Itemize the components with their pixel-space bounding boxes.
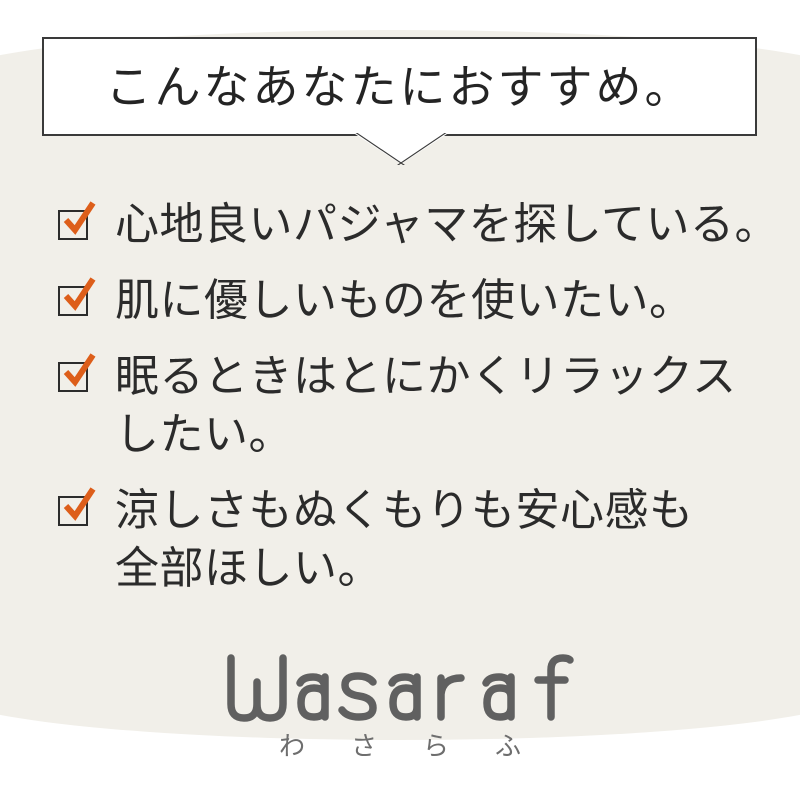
list-item-line: したい。 (115, 410, 293, 459)
checked-box-icon (58, 210, 88, 240)
checked-box-icon (58, 362, 88, 392)
checked-box-icon (58, 496, 88, 526)
brand-wordmark-icon (225, 652, 575, 726)
list-item-text: 心地良いパジャマを探している。 (115, 196, 779, 254)
header-speech-bubble: こんなあなたにおすすめ。 (42, 37, 757, 136)
brand-reading: わさらふ (0, 732, 800, 761)
list-item-line: 心地良いパジャマを探している。 (115, 200, 779, 249)
brand-logo: わさらふ (0, 652, 800, 761)
speech-bubble-tail (355, 134, 447, 168)
list-item-line: 肌に優しいものを使いたい。 (115, 276, 694, 325)
list-item-text: 涼しさもぬくもりも安心感も 全部ほしい。 (115, 482, 778, 598)
list-item: 眠るときはとにかくリラックス したい。 (58, 348, 778, 464)
list-item-line: 涼しさもぬくもりも安心感も (115, 486, 694, 535)
page-title: こんなあなたにおすすめ。 (106, 64, 694, 110)
list-item-line: 眠るときはとにかくリラックス (115, 352, 737, 401)
list-item-line: 全部ほしい。 (115, 544, 382, 593)
list-item: 心地良いパジャマを探している。 (58, 196, 778, 254)
list-item: 肌に優しいものを使いたい。 (58, 272, 778, 330)
recommendation-checklist: 心地良いパジャマを探している。 肌に優しいものを使いたい。 眠るときはとにかくリ… (58, 196, 778, 616)
list-item-text: 眠るときはとにかくリラックス したい。 (115, 348, 778, 464)
checked-box-icon (58, 286, 88, 316)
list-item-text: 肌に優しいものを使いたい。 (115, 272, 778, 330)
list-item: 涼しさもぬくもりも安心感も 全部ほしい。 (58, 482, 778, 598)
promo-graphic: こんなあなたにおすすめ。 心地良いパジャマを探している。 (0, 0, 800, 800)
